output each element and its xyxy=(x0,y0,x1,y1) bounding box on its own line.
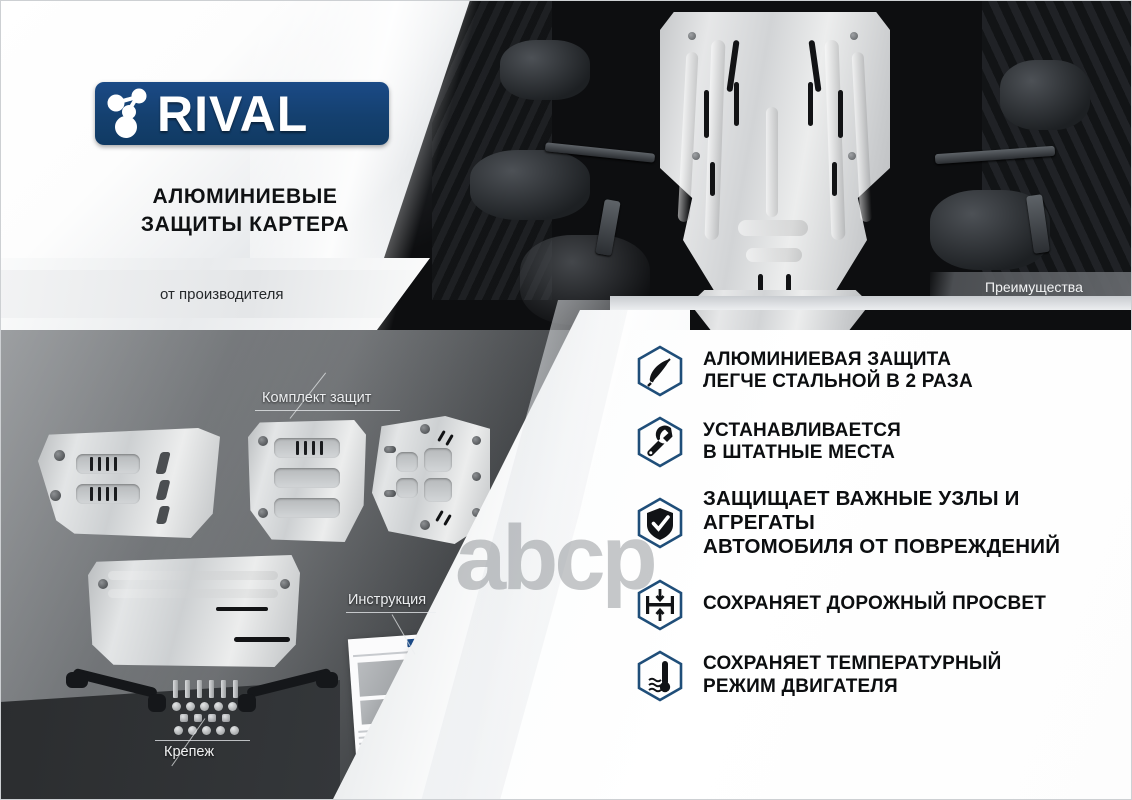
callout-underline-kit xyxy=(255,410,400,411)
ground-clearance-icon xyxy=(634,579,686,631)
callout-manual: Инструкция xyxy=(348,592,426,608)
skid-plate-3 xyxy=(372,416,490,544)
molecule-icon xyxy=(103,86,159,142)
leaf-icon xyxy=(634,345,686,397)
advantages-tag-label: Преимущества xyxy=(985,279,1083,295)
feature-text-protection: ЗАЩИЩАЕТ ВАЖНЫЕ УЗЛЫ И АГРЕГАТЫ АВТОМОБИ… xyxy=(703,487,1114,560)
title-line-1: АЛЮМИНИЕВЫЕ xyxy=(95,183,395,211)
skid-plate-2 xyxy=(248,420,366,542)
feature-item-fitment: УСТАНАВЛИВАЕТСЯ В ШТАТНЫЕ МЕСТА xyxy=(634,416,1114,468)
rival-logo: RIVAL xyxy=(95,82,389,145)
feature-text-fitment: УСТАНАВЛИВАЕТСЯ В ШТАТНЫЕ МЕСТА xyxy=(703,420,901,465)
feature-item-protection: ЗАЩИЩАЕТ ВАЖНЫЕ УЗЛЫ И АГРЕГАТЫ АВТОМОБИ… xyxy=(634,487,1114,560)
callout-kit: Комплект защит xyxy=(262,390,371,406)
features-top-edge xyxy=(610,296,1132,310)
feature-item-lightweight: АЛЮМИНИЕВАЯ ЗАЩИТА ЛЕГЧЕ СТАЛЬНОЙ В 2 РА… xyxy=(634,345,1114,397)
skid-plate-4 xyxy=(88,555,300,667)
callout-underline-hardware xyxy=(155,740,250,741)
page-title: АЛЮМИНИЕВЫЕ ЗАЩИТЫ КАРТЕРА xyxy=(95,183,395,238)
logo-wordmark: RIVAL xyxy=(157,89,308,139)
header-subtitle: от производителя xyxy=(160,286,283,303)
suspension-part xyxy=(1000,60,1090,130)
title-line-2: ЗАЩИТЫ КАРТЕРА xyxy=(95,211,395,239)
installed-skid-plate xyxy=(660,12,890,312)
callout-underline-manual xyxy=(346,612,436,613)
suspension-part xyxy=(500,40,590,100)
promo-banner: RIVAL АЛЮМИНИЕВЫЕ ЗАЩИТЫ КАРТЕРА от прои… xyxy=(0,0,1132,800)
subtitle-bar: от производителя xyxy=(0,270,420,318)
feature-item-temperature: СОХРАНЯЕТ ТЕМПЕРАТУРНЫЙ РЕЖИМ ДВИГАТЕЛЯ xyxy=(634,650,1114,702)
features-list: АЛЮМИНИЕВАЯ ЗАЩИТА ЛЕГЧЕ СТАЛЬНОЙ В 2 РА… xyxy=(634,345,1114,721)
feature-text-temperature: СОХРАНЯЕТ ТЕМПЕРАТУРНЫЙ РЕЖИМ ДВИГАТЕЛЯ xyxy=(703,653,1002,698)
callout-hardware: Крепеж xyxy=(164,744,214,760)
suspension-part xyxy=(470,150,590,220)
shield-check-icon xyxy=(634,497,686,549)
feature-text-clearance: СОХРАНЯЕТ ДОРОЖНЫЙ ПРОСВЕТ xyxy=(703,593,1046,615)
feature-text-lightweight: АЛЮМИНИЕВАЯ ЗАЩИТА ЛЕГЧЕ СТАЛЬНОЙ В 2 РА… xyxy=(703,349,973,394)
skid-plate-1 xyxy=(38,428,220,538)
thermometer-icon xyxy=(634,650,686,702)
wrench-icon xyxy=(634,416,686,468)
feature-item-clearance: СОХРАНЯЕТ ДОРОЖНЫЙ ПРОСВЕТ xyxy=(634,579,1114,631)
